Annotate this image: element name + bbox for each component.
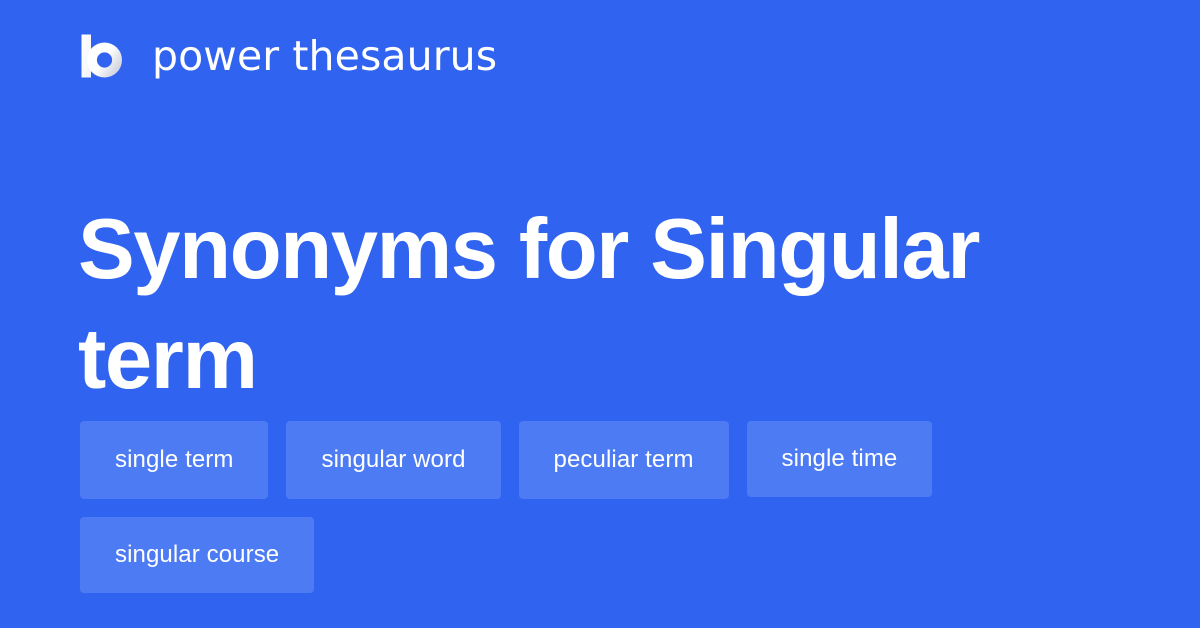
power-thesaurus-b-logo-icon	[80, 33, 126, 79]
page-title: Synonyms for Singular term	[78, 195, 1038, 415]
brand-logo[interactable]: power thesaurus	[80, 30, 497, 82]
synonym-chip-list: single term singular word peculiar term …	[80, 421, 1120, 593]
synonym-chip[interactable]: single term	[80, 421, 268, 499]
brand-name: power thesaurus	[152, 36, 497, 77]
share-card: power thesaurus Synonyms for Singular te…	[0, 0, 1200, 628]
synonym-chip[interactable]: peculiar term	[519, 421, 729, 499]
synonym-chip[interactable]: single time	[747, 421, 933, 497]
synonym-chip[interactable]: singular word	[286, 421, 500, 499]
synonym-chip[interactable]: singular course	[80, 517, 314, 593]
